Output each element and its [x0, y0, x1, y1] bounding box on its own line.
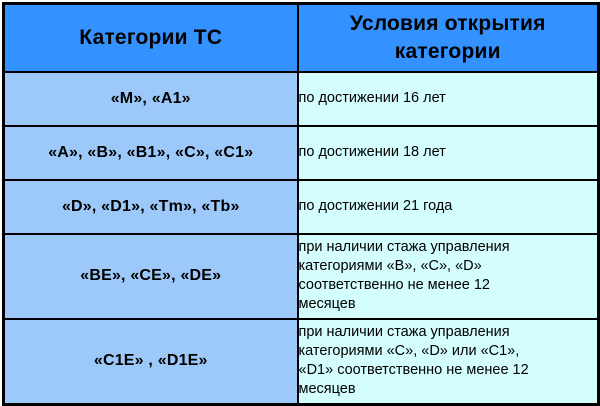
table-row: «M», «A1» по достижении 16 лет	[4, 72, 599, 126]
table-row: «A», «B», «B1», «C», «C1» по достижении …	[4, 126, 599, 180]
category-cell: «M», «A1»	[4, 72, 298, 126]
condition-line: при наличии стажа управления	[299, 323, 598, 342]
category-cell: «C1E» , «D1E»	[4, 319, 298, 405]
table-row: «D», «D1», «Tm», «Tb» по достижении 21 г…	[4, 180, 599, 234]
table-row: «BE», «CE», «DE» при наличии стажа управ…	[4, 234, 599, 319]
condition-cell: по достижении 21 года	[298, 180, 599, 234]
condition-line: «D1» соответственно не менее 12	[299, 361, 598, 380]
header-row: Категории ТС Условия открытия категории	[4, 4, 599, 72]
condition-cell: по достижении 18 лет	[298, 126, 599, 180]
table-header: Категории ТС Условия открытия категории	[4, 4, 599, 72]
category-cell: «A», «B», «B1», «C», «C1»	[4, 126, 298, 180]
header-conditions-line-2: категории	[395, 40, 501, 63]
condition-line: месяцев	[299, 295, 598, 314]
header-cell-categories: Категории ТС	[4, 4, 298, 72]
condition-line: при наличии стажа управления	[299, 238, 598, 257]
condition-line: по достижении 16 лет	[299, 89, 598, 108]
condition-line: категориями «C», «D» или «C1»,	[299, 342, 598, 361]
condition-cell: по достижении 16 лет	[298, 72, 599, 126]
condition-line: по достижении 18 лет	[299, 143, 598, 162]
table-row: «C1E» , «D1E» при наличии стажа управлен…	[4, 319, 599, 405]
condition-line: категориями «B», «C», «D»	[299, 257, 598, 276]
page-container: Категории ТС Условия открытия категории …	[0, 0, 600, 400]
condition-cell: при наличии стажа управления категориями…	[298, 234, 599, 319]
condition-line: месяцев	[299, 380, 598, 399]
category-cell: «BE», «CE», «DE»	[4, 234, 298, 319]
condition-cell: при наличии стажа управления категориями…	[298, 319, 599, 405]
category-cell: «D», «D1», «Tm», «Tb»	[4, 180, 298, 234]
header-conditions-line-1: Условия открытия	[350, 12, 546, 35]
table-body: «M», «A1» по достижении 16 лет «A», «B»,…	[4, 72, 599, 405]
header-cell-conditions: Условия открытия категории	[298, 4, 599, 72]
condition-line: по достижении 21 года	[299, 197, 598, 216]
categories-table: Категории ТС Условия открытия категории …	[2, 2, 600, 406]
condition-line: соответственно не менее 12	[299, 276, 598, 295]
